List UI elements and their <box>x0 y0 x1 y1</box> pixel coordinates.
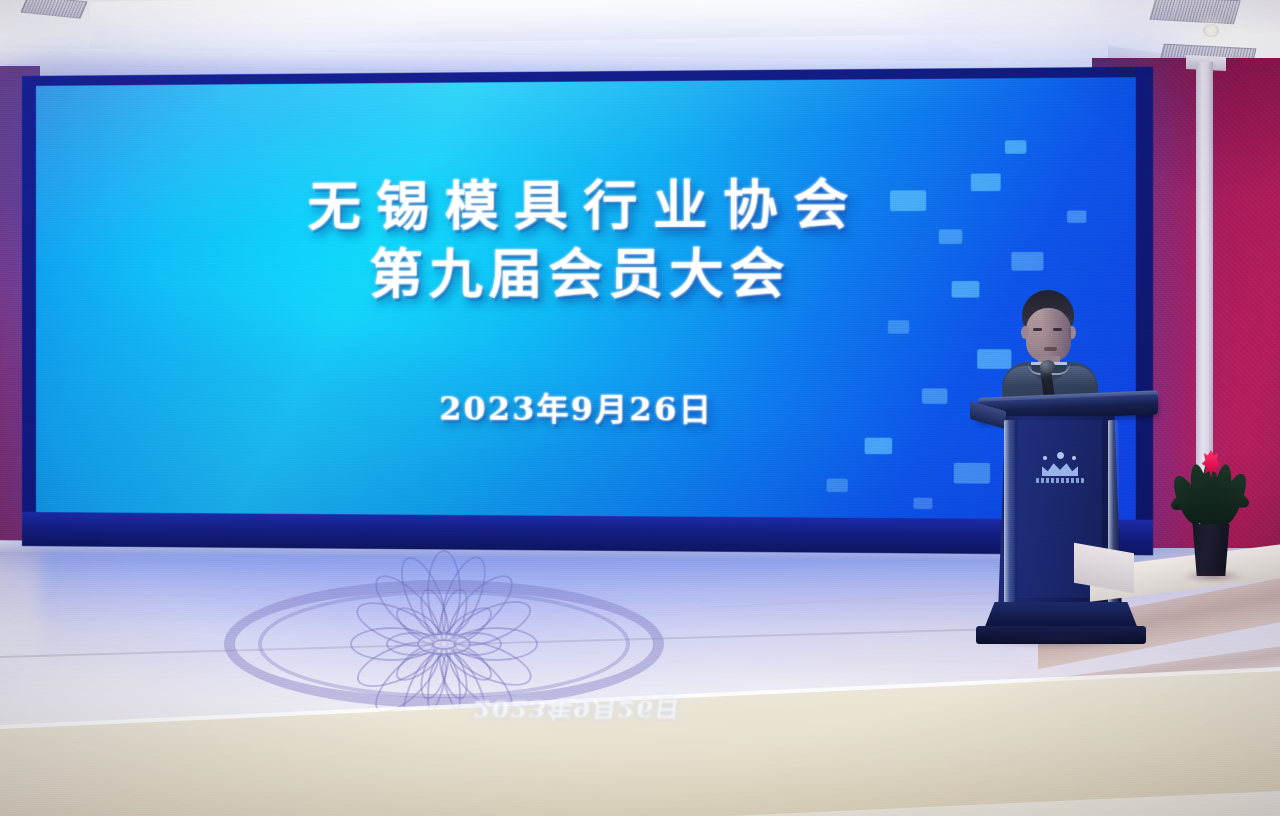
crown-icon <box>1042 460 1078 476</box>
date-reflection-on-floor: 2023年9月26日 <box>430 690 724 725</box>
podium-floor-shadow <box>980 634 1144 648</box>
speaker-person <box>998 290 1098 410</box>
podium-chrome-rail <box>1004 420 1015 610</box>
medallion-petal-group <box>266 592 622 696</box>
crest-jewel-icon <box>1057 452 1064 459</box>
floor-rosette-medallion <box>224 580 664 708</box>
recessed-downlight-icon <box>1203 24 1219 37</box>
speaker-face-shading <box>1026 308 1071 362</box>
plant-floor-shadow <box>1182 570 1244 582</box>
podium-crown-crest-icon <box>1038 452 1082 482</box>
conference-stage-photo: 2023年9月26日 <box>0 0 1280 816</box>
crest-jewel-icon <box>1043 456 1047 460</box>
crest-jewel-icon <box>1072 456 1076 460</box>
potted-plant <box>1168 440 1252 580</box>
plant-pot <box>1190 524 1232 576</box>
crest-wordmark <box>1036 478 1084 483</box>
medallion-center-diamond <box>432 639 456 650</box>
podium-and-speaker <box>960 290 1160 690</box>
